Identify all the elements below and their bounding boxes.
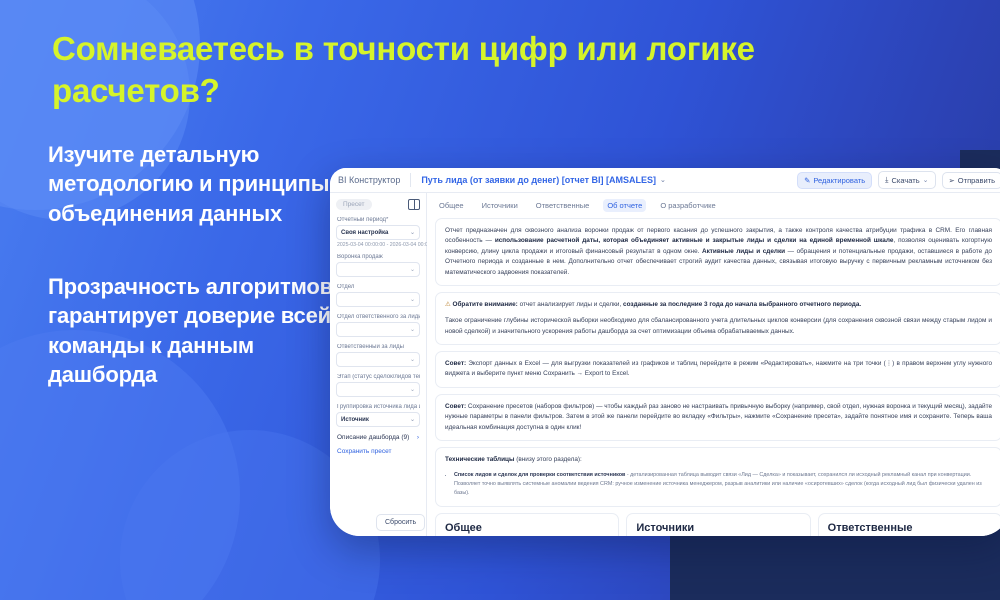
filter-department-select[interactable]: ⌄ [336, 292, 420, 307]
tech-tables-title: Технические таблицы [445, 456, 514, 463]
filter-period-select[interactable]: Своя настройка ⌄ [336, 225, 420, 240]
dashboard-description-link[interactable]: Описание дашборда (9) › [337, 434, 419, 441]
chevron-down-icon: ⌄ [410, 266, 415, 273]
preset-pill[interactable]: Пресет [336, 199, 372, 210]
warning-icon: ⚠ [445, 301, 451, 308]
filter-label: Группировка источника лида и рекламы [337, 404, 420, 410]
tab-otvetstvennye[interactable]: Ответственные [532, 199, 594, 212]
tip-1: Совет: Экспорт данных в Excel — для выгр… [445, 359, 992, 380]
about-text-bold: Активные лиды и сделки [702, 248, 785, 255]
notice-label: Обратите внимание: [453, 301, 518, 308]
tab-obshee[interactable]: Общее [435, 199, 468, 212]
filter-lead-department-select[interactable]: ⌄ [336, 322, 420, 337]
edit-button-label: Редактировать [813, 176, 865, 185]
about-card-tip-2: Совет: Сохранение пресетов (наборов филь… [435, 394, 1000, 441]
poster-stage: Сомневаетесь в точности цифр или логике … [0, 0, 1000, 600]
send-icon: ➢ [949, 176, 955, 185]
filter-period-range: 2025-03-04 00:00:00 - 2026-03-04 00:00:0… [337, 242, 420, 248]
notice-text: отчет анализирует лиды и сделки, [518, 301, 623, 308]
filter-funnel-select[interactable]: ⌄ [336, 262, 420, 277]
filter-source-group-select[interactable]: Источник ⌄ [336, 412, 420, 427]
about-card-tip-1: Совет: Экспорт данных в Excel — для выгр… [435, 351, 1000, 388]
download-icon: ⤓ [885, 175, 888, 185]
section-card-istochniki[interactable]: Источники Глубокий анализ качества трафи… [626, 513, 810, 536]
chevron-down-icon: ⌄ [660, 176, 666, 184]
section-card-title: Общее [445, 522, 609, 534]
filter-value: Своя настройка [341, 230, 388, 236]
filter-label: Воронка продаж [337, 254, 420, 260]
send-button[interactable]: ➢ Отправить [942, 172, 1000, 189]
chevron-down-icon: ⌄ [410, 356, 415, 363]
report-content: Общее Источники Ответственные Об отчете … [427, 193, 1000, 536]
filter-value: Источник [341, 417, 369, 423]
reset-button[interactable]: Сбросить [376, 514, 425, 531]
chevron-down-icon: ⌄ [923, 176, 929, 184]
tech-tables-heading: Технические таблицы (внизу этого раздела… [445, 455, 992, 465]
report-title-label: Путь лида (от заявки до денег) [отчет BI… [421, 175, 656, 185]
tip-label: Совет: [445, 403, 466, 410]
tip-2: Совет: Сохранение пресетов (наборов филь… [445, 402, 992, 433]
app-topbar: BI Конструктор Путь лида (от заявки до д… [330, 168, 1000, 193]
tip-text: Сохранение пресетов (наборов фильтров) —… [445, 403, 992, 431]
dashboard-description-label: Описание дашборда (9) [337, 434, 409, 441]
filter-label: Ответственный за лиды [337, 344, 420, 350]
edit-button[interactable]: ✎ Редактировать [797, 172, 872, 189]
send-button-label: Отправить [958, 176, 995, 185]
about-card-tech-tables: Технические таблицы (внизу этого раздела… [435, 447, 1000, 507]
filter-label: Отчетный период* [337, 217, 420, 223]
tip-text: Экспорт данных в Excel — для выгрузки по… [445, 360, 992, 377]
list-item: Список лидов и сделок для проверки соотв… [454, 471, 992, 497]
notice-emphasis: созданные за последние 3 года до начала … [623, 301, 861, 308]
divider [410, 173, 411, 187]
about-text-bold: использование расчетной даты, которая об… [495, 237, 894, 244]
about-card-intro: Отчет предназначен для сквозного анализа… [435, 218, 1000, 286]
section-cards: Общее Верхнеуровневый анализ воронки пре… [435, 513, 1000, 536]
pencil-icon: ✎ [804, 176, 810, 185]
poster-headline: Сомневаетесь в точности цифр или логике … [52, 28, 882, 112]
tab-istochniki[interactable]: Источники [478, 199, 522, 212]
filter-stage-select[interactable]: ⌄ [336, 382, 420, 397]
notice-line: ⚠ Обратите внимание: отчет анализирует л… [445, 300, 992, 310]
section-card-title: Источники [636, 522, 800, 534]
tip-label: Совет: [445, 360, 466, 367]
section-card-obshee[interactable]: Общее Верхнеуровневый анализ воронки пре… [435, 513, 619, 536]
chevron-down-icon: ⌄ [410, 296, 415, 303]
section-card-title: Ответственные [828, 522, 992, 534]
section-card-otvetstvennye[interactable]: Ответственные Персональный анализ эффект… [818, 513, 1000, 536]
notice-body: Такое ограничение глубины исторической в… [445, 316, 992, 337]
app-brand: BI Конструктор [338, 175, 400, 185]
download-button-label: Скачать [892, 176, 920, 185]
chevron-down-icon: ⌄ [410, 386, 415, 393]
filter-lead-owner-select[interactable]: ⌄ [336, 352, 420, 367]
topbar-actions: ✎ Редактировать ⤓ Скачать ⌄ ➢ Отправить [797, 171, 1000, 189]
chevron-down-icon: ⌄ [410, 326, 415, 333]
dashboard-screenshot: BI Конструктор Путь лида (от заявки до д… [330, 168, 1000, 536]
report-title-dropdown[interactable]: Путь лида (от заявки до денег) [отчет BI… [421, 175, 666, 185]
tab-o-razrabotchike[interactable]: О разработчике [656, 199, 719, 212]
list-item-title: Список лидов и сделок для проверки соотв… [454, 472, 625, 478]
filters-sidebar: Пресет Отчетный период* Своя настройка ⌄… [330, 193, 427, 536]
chevron-down-icon: ⌄ [410, 416, 415, 423]
filter-label: Отдел [337, 284, 420, 290]
tech-tables-suffix: (внизу этого раздела): [514, 456, 581, 463]
app-body: Пресет Отчетный период* Своя настройка ⌄… [330, 193, 1000, 536]
tech-tables-list: Список лидов и сделок для проверки соотв… [445, 471, 992, 497]
tab-ob-otchete[interactable]: Об отчете [603, 199, 646, 212]
report-tabs: Общее Источники Ответственные Об отчете … [435, 199, 1000, 212]
download-button[interactable]: ⤓ Скачать ⌄ [878, 171, 935, 189]
about-paragraph: Отчет предназначен для сквозного анализа… [445, 226, 992, 278]
chevron-right-icon: › [417, 434, 419, 441]
preset-row: Пресет [336, 199, 420, 210]
save-preset-link[interactable]: Сохранить пресет [337, 448, 420, 455]
filter-label: Отдел ответственного за лиды [337, 314, 420, 320]
poster-subtext-2: Прозрачность алгоритмов гарантирует дове… [48, 272, 348, 389]
poster-subtext-1: Изучите детальную методологию и принципы… [48, 140, 348, 228]
about-card-notice: ⚠ Обратите внимание: отчет анализирует л… [435, 292, 1000, 345]
filter-label: Этап (статус сделок/лидов текущий) [337, 374, 420, 380]
chevron-down-icon: ⌄ [410, 229, 415, 236]
panel-toggle-icon[interactable] [408, 199, 420, 210]
